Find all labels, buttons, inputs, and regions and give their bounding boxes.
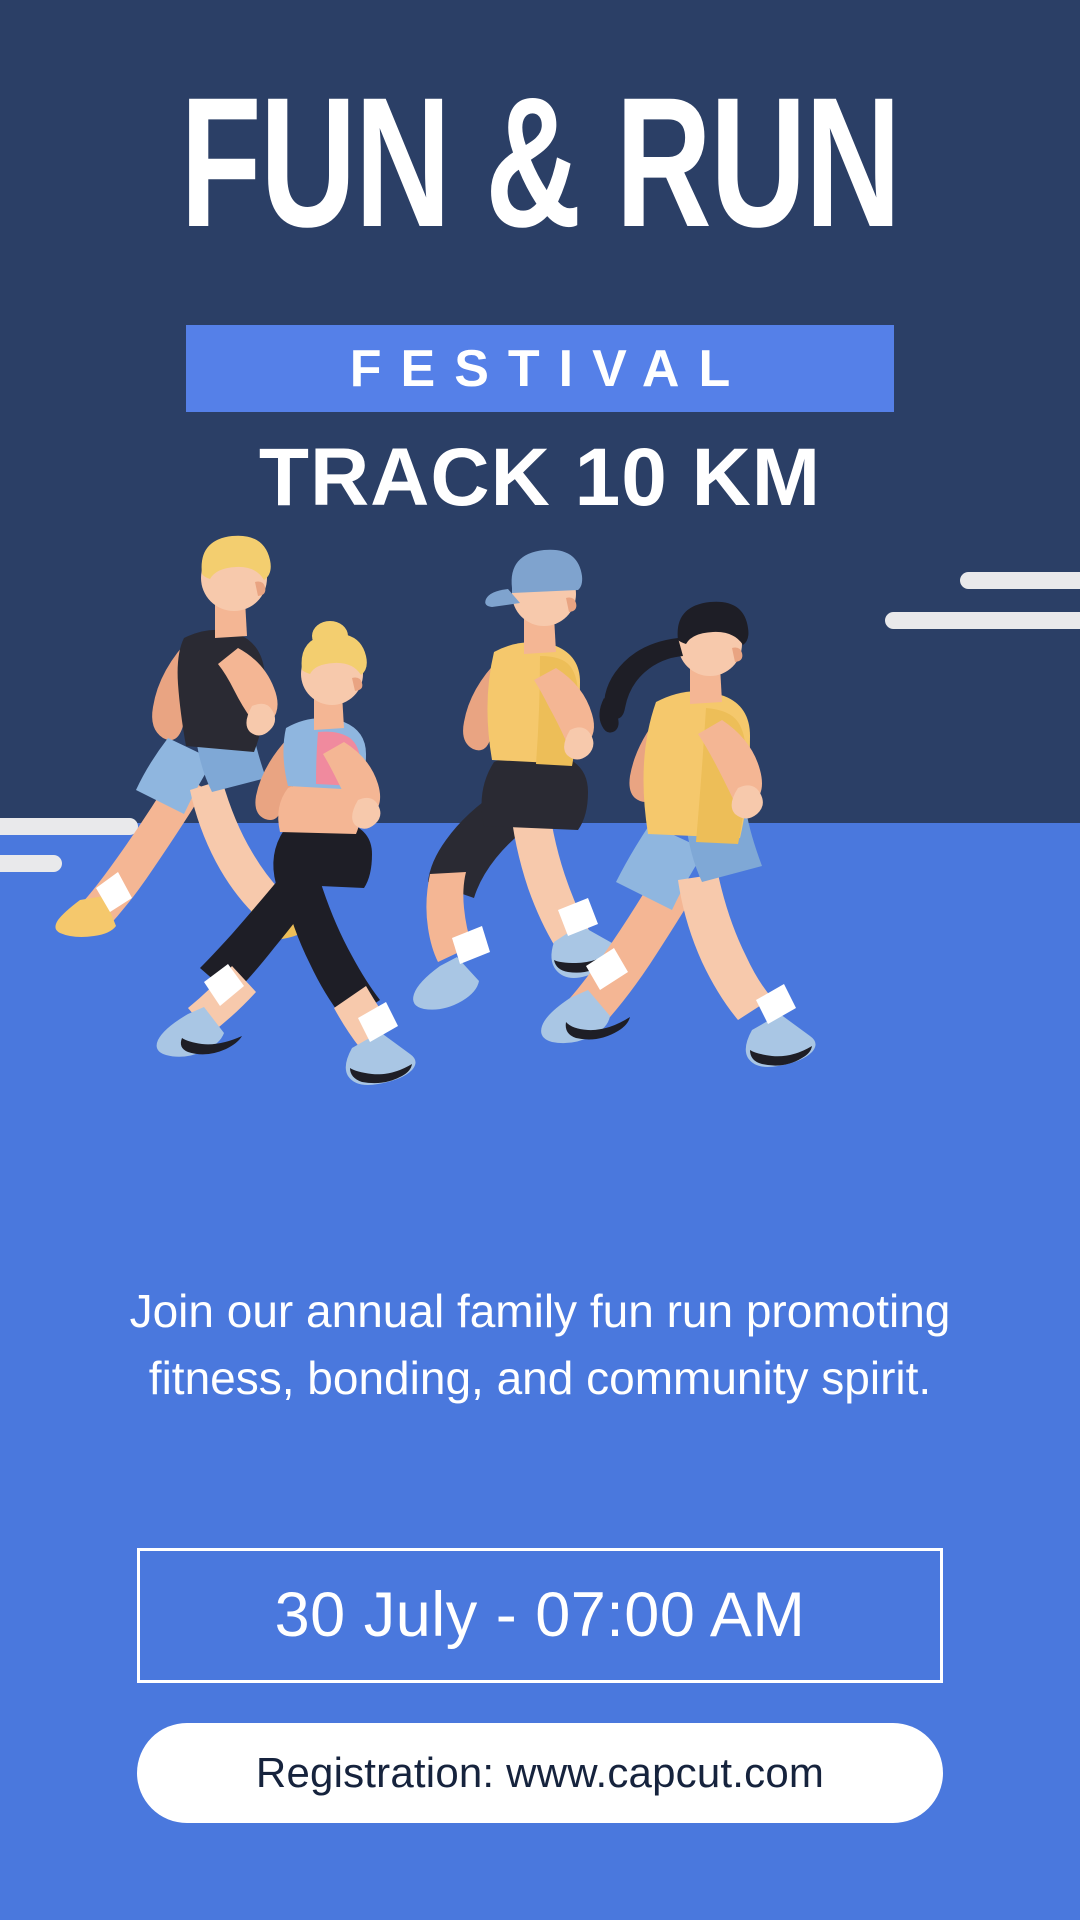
page-title: FUN & RUN: [151, 88, 929, 238]
runner-ponytail-woman: [541, 602, 815, 1067]
runner-blond-man: [55, 536, 310, 941]
festival-banner: FESTIVAL: [186, 325, 894, 412]
registration-button[interactable]: Registration: www.capcut.com: [137, 1723, 943, 1823]
poster-canvas: FUN & RUN FESTIVAL TRACK 10 KM .skin { f…: [0, 0, 1080, 1920]
festival-banner-label: FESTIVAL: [331, 343, 749, 395]
registration-label: Registration: www.capcut.com: [256, 1752, 824, 1794]
runner-capped-man: [413, 550, 618, 1010]
four-runners-illustration: .skin { fill:#F4B694; } .skin2 { fill:#E…: [0, 470, 1080, 1250]
date-time-box: 30 July - 07:00 AM: [137, 1548, 943, 1683]
runners-svg: .skin { fill:#F4B694; } .skin2 { fill:#E…: [0, 470, 1080, 1250]
date-time-label: 30 July - 07:00 AM: [275, 1584, 806, 1647]
description-text: Join our annual family fun run promoting…: [90, 1278, 990, 1412]
